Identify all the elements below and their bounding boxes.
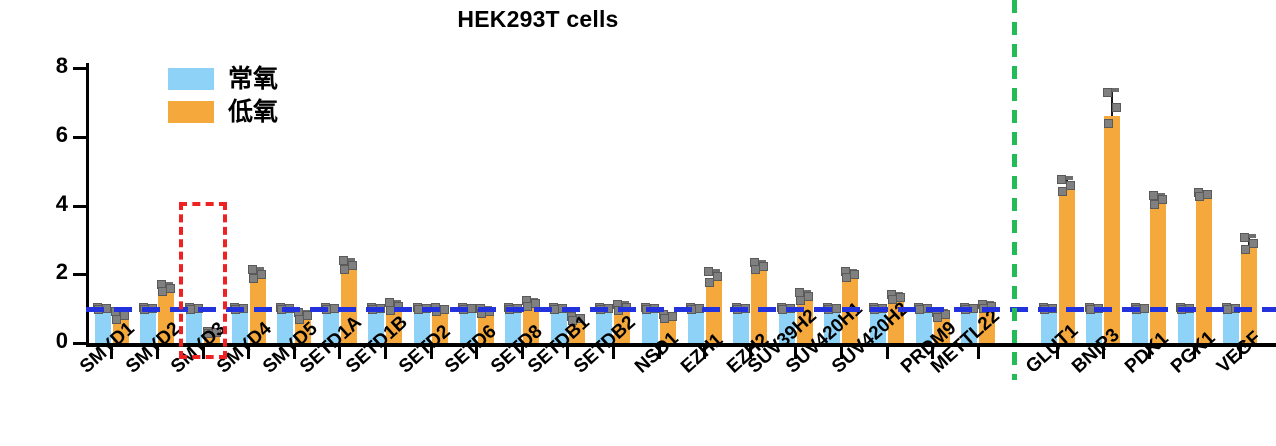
replicate-dot bbox=[1150, 200, 1159, 209]
replicate-dot bbox=[804, 292, 813, 301]
highlight-box-smyd3 bbox=[179, 202, 227, 359]
replicate-dot bbox=[1104, 119, 1113, 128]
legend-label-hypoxia: 低氧 bbox=[228, 99, 278, 124]
legend-swatch-normoxia bbox=[168, 68, 214, 90]
replicate-dot bbox=[933, 313, 942, 322]
reference-line-1x bbox=[86, 307, 1276, 312]
replicate-dot bbox=[339, 256, 348, 265]
y-tick-label-4: 4 bbox=[40, 191, 68, 217]
replicate-dot bbox=[704, 267, 713, 276]
legend: 常氧 低氧 bbox=[168, 62, 278, 128]
y-tick-6 bbox=[73, 136, 86, 139]
legend-item-normoxia: 常氧 bbox=[168, 62, 278, 95]
replicate-dot bbox=[1240, 233, 1249, 242]
y-tick-2 bbox=[73, 273, 86, 276]
replicate-dot bbox=[751, 265, 760, 274]
replicate-dot bbox=[705, 278, 714, 287]
replicate-dot bbox=[1149, 191, 1158, 200]
y-tick-4 bbox=[73, 205, 86, 208]
y-tick-label-2: 2 bbox=[40, 259, 68, 285]
y-tick-label-6: 6 bbox=[40, 122, 68, 148]
replicate-dot bbox=[796, 296, 805, 305]
replicate-dot bbox=[1249, 239, 1258, 248]
replicate-dot bbox=[1057, 175, 1066, 184]
legend-label-normoxia: 常氧 bbox=[228, 66, 278, 91]
replicate-dot bbox=[249, 274, 258, 283]
replicate-dot bbox=[257, 270, 266, 279]
replicate-dot bbox=[348, 261, 357, 270]
replicate-dot bbox=[668, 312, 677, 321]
replicate-dot bbox=[1103, 88, 1112, 97]
replicate-dot bbox=[166, 284, 175, 293]
replicate-dot bbox=[713, 272, 722, 281]
y-tick-0 bbox=[73, 342, 86, 345]
replicate-dot bbox=[1195, 192, 1204, 201]
chart-title: HEK293T cells bbox=[0, 6, 1276, 33]
bar-hypoxia-pdk1 bbox=[1150, 202, 1166, 343]
y-tick-label-0: 0 bbox=[40, 328, 68, 354]
replicate-dot bbox=[1058, 187, 1067, 196]
replicate-dot bbox=[1112, 103, 1121, 112]
replicate-dot bbox=[1158, 195, 1167, 204]
replicate-dot bbox=[340, 265, 349, 274]
bar-hypoxia-pgk1 bbox=[1196, 195, 1212, 343]
y-tick-label-8: 8 bbox=[40, 53, 68, 79]
y-tick-8 bbox=[73, 67, 86, 70]
replicate-dot bbox=[1241, 245, 1250, 254]
x-tick-suv420h2 bbox=[886, 347, 889, 359]
replicate-dot bbox=[759, 262, 768, 271]
replicate-dot bbox=[1203, 190, 1212, 199]
replicate-dot bbox=[660, 314, 669, 323]
legend-item-hypoxia: 低氧 bbox=[168, 95, 278, 128]
replicate-dot bbox=[158, 287, 167, 296]
panel-divider-line bbox=[1012, 0, 1017, 380]
replicate-dot bbox=[842, 273, 851, 282]
replicate-dot bbox=[1066, 181, 1075, 190]
replicate-dot bbox=[850, 270, 859, 279]
chart-figure: HEK293T cells 基因相对表达水平 86420 SMYD1SMYD2S… bbox=[0, 0, 1276, 446]
legend-swatch-hypoxia bbox=[168, 101, 214, 123]
x-tick-mettl22 bbox=[977, 347, 980, 359]
